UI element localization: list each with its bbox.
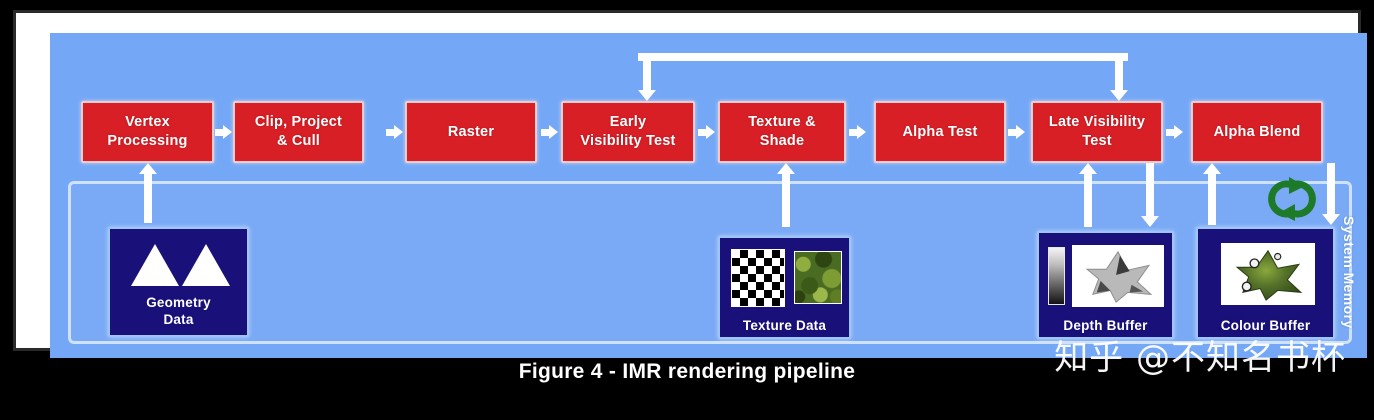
diagram-panel: System Memory VertexProcessing Clip, Pro… — [50, 33, 1367, 358]
figure-frame: System Memory VertexProcessing Clip, Pro… — [13, 10, 1361, 351]
depth-gradient-bar-icon — [1048, 247, 1065, 305]
flow-arrow-1 — [215, 125, 232, 140]
stage-clip-project-cull[interactable]: Clip, Project& Cull — [233, 101, 364, 163]
stage-label: Alpha Blend — [1214, 123, 1301, 142]
stage-alpha-test[interactable]: Alpha Test — [874, 101, 1006, 163]
stage-label: Late VisibilityTest — [1049, 113, 1145, 150]
feedback-arrow-right — [1110, 53, 1128, 101]
arrow-late-visibility-to-depth — [1141, 163, 1159, 227]
two-triangles-icon — [131, 244, 179, 286]
watermark-text: 知乎 @不知名书杯 — [1054, 330, 1346, 379]
buffer-depth-buffer[interactable]: Depth Buffer — [1037, 231, 1174, 339]
stage-texture-shade[interactable]: Texture &Shade — [718, 101, 846, 163]
buffer-label: GeometryData — [110, 295, 247, 329]
arrow-texture-to-shade — [777, 163, 795, 227]
stage-label: Raster — [448, 123, 494, 142]
stage-label: Alpha Test — [902, 123, 977, 142]
arrow-colour-to-alpha-blend — [1203, 163, 1221, 225]
two-triangles-icon-second — [182, 244, 230, 286]
stage-label: EarlyVisibility Test — [580, 113, 675, 150]
flow-arrow-5 — [849, 125, 866, 140]
flow-arrow-7 — [1166, 125, 1183, 140]
stage-label: Clip, Project& Cull — [255, 113, 342, 150]
stage-alpha-blend[interactable]: Alpha Blend — [1191, 101, 1323, 163]
feedback-arrow-left — [638, 53, 656, 101]
figure-root: System Memory VertexProcessing Clip, Pro… — [0, 0, 1374, 420]
colour-star-icon — [1222, 244, 1314, 304]
flow-arrow-6 — [1008, 125, 1025, 140]
arrow-geometry-to-vertex — [139, 163, 157, 223]
camo-texture-icon — [794, 251, 842, 304]
stage-late-visibility-test[interactable]: Late VisibilityTest — [1031, 101, 1163, 163]
buffer-texture-data[interactable]: Texture Data — [718, 236, 851, 339]
flow-arrow-2 — [386, 125, 403, 140]
checkerboard-texture-icon — [731, 249, 785, 307]
buffer-label: Texture Data — [720, 318, 849, 333]
grey-star-icon — [1073, 246, 1163, 306]
stage-vertex-processing[interactable]: VertexProcessing — [81, 101, 214, 163]
stage-label: Texture &Shade — [748, 113, 816, 150]
recycle-loop-icon — [1259, 174, 1325, 224]
stage-label: VertexProcessing — [107, 113, 187, 150]
visibility-feedback-path — [638, 53, 1128, 101]
buffer-colour-buffer[interactable]: Colour Buffer — [1196, 227, 1335, 339]
flow-arrow-4 — [698, 125, 715, 140]
flow-arrow-3 — [541, 125, 558, 140]
depth-star-plate — [1072, 245, 1164, 307]
colour-star-plate — [1221, 243, 1315, 305]
stage-raster[interactable]: Raster — [405, 101, 537, 163]
stage-early-visibility-test[interactable]: EarlyVisibility Test — [561, 101, 695, 163]
buffer-geometry-data[interactable]: GeometryData — [108, 227, 249, 337]
arrow-depth-to-late-visibility — [1079, 163, 1097, 227]
feedback-path-bar — [638, 53, 1128, 61]
